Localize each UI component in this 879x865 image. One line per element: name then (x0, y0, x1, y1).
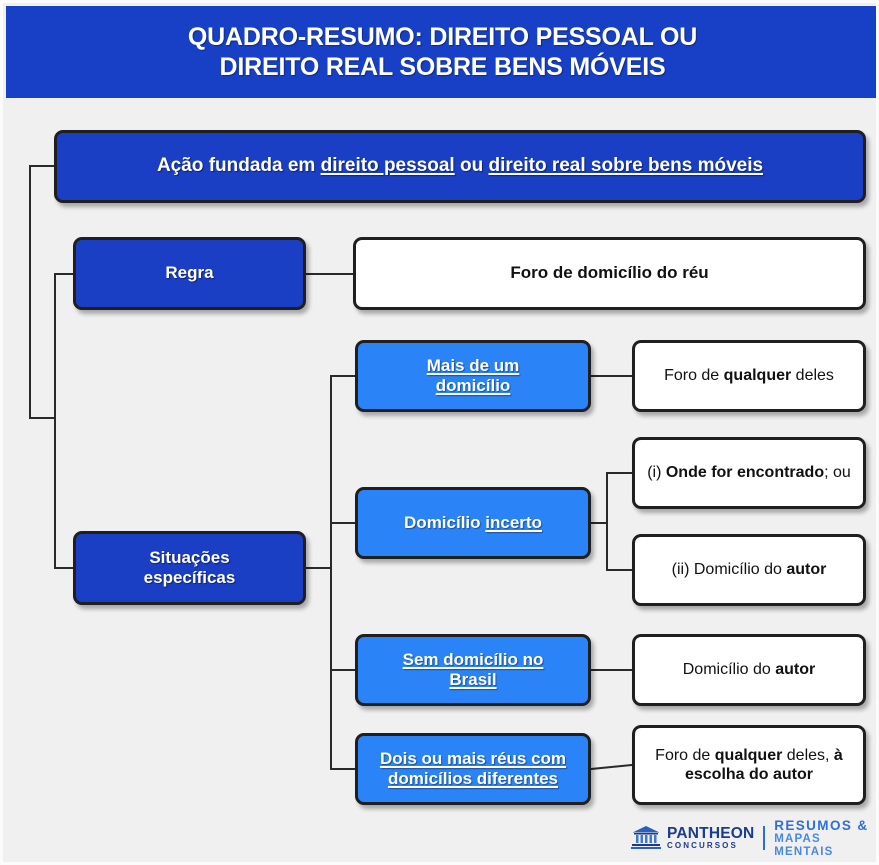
root-middle: ou (455, 155, 489, 176)
node-situacao-1-line2: domicílio (436, 376, 511, 395)
node-situacao-3-label: Sem domicílio no Brasil (368, 650, 578, 691)
s4-o-post: deles, (782, 747, 834, 764)
root-term-2: direito real sobre bens móveis (489, 155, 764, 176)
root-node: Ação fundada em direito pessoal ou direi… (54, 130, 866, 203)
mindmap-page: QUADRO-RESUMO: DIREITO PESSOAL OU DIREIT… (0, 0, 879, 865)
logo-divider (763, 826, 765, 850)
root-node-label: Ação fundada em direito pessoal ou direi… (67, 155, 853, 178)
logo-name: PANTHEON (667, 826, 754, 842)
node-situacao-3-line2: Brasil (449, 670, 496, 689)
page-title-line1: QUADRO-RESUMO: DIREITO PESSOAL OU (188, 22, 697, 53)
node-situacao-3-outcome-label: Domicílio do autor (645, 660, 853, 679)
logo-tagline-line2: MAPAS MENTAIS (774, 833, 871, 859)
logo-wordmark: PANTHEON CONCURSOS (667, 826, 754, 851)
node-situacao-1-label: Mais de um domicílio (368, 356, 578, 397)
node-regra-outcome-label: Foro de domicílio do réu (366, 263, 853, 283)
node-situacao-2-outcome-2: (ii) Domicílio do autor (632, 534, 866, 606)
node-situacao-sem-domicilio-no-brasil: Sem domicílio no Brasil (355, 634, 591, 706)
node-situacao-4-line2: domicílios diferentes (388, 769, 558, 788)
node-situacao-4-outcome-label: Foro de qualquer deles, à escolha do aut… (645, 746, 853, 784)
s3-o-pre: Domicílio do (683, 661, 775, 678)
node-regra-outcome: Foro de domicílio do réu (353, 237, 866, 310)
node-situacoes-especificas: Situações específicas (73, 531, 306, 605)
node-situacao-1-outcome-label: Foro de qualquer deles (645, 366, 853, 385)
s2-o1-strong: Onde for encontrado (666, 464, 824, 481)
brand-logo: PANTHEON CONCURSOS RESUMOS & MAPAS MENTA… (631, 821, 871, 855)
s1-o-post: deles (791, 367, 834, 384)
node-situacao-2-line2: incerto (485, 513, 542, 532)
pantheon-building-icon (631, 825, 661, 851)
s3-o-strong: autor (775, 661, 815, 678)
root-term-1: direito pessoal (321, 155, 455, 176)
node-situacao-2-outcome-2-label: (ii) Domicílio do autor (645, 560, 853, 579)
node-situacao-4-label: Dois ou mais réus com domicílios diferen… (368, 749, 578, 790)
node-situacao-mais-de-um-domicilio: Mais de um domicílio (355, 340, 591, 412)
wire-level2-spine (55, 274, 73, 568)
node-situacao-1-outcome: Foro de qualquer deles (632, 340, 866, 412)
node-regra: Regra (73, 237, 306, 310)
node-situacao-1-line1: Mais de um (427, 356, 520, 375)
node-situacoes-label: Situações específicas (86, 548, 293, 589)
node-regra-label: Regra (86, 263, 293, 283)
node-situacoes-line2: específicas (144, 568, 236, 587)
node-situacao-2-outcome-1-label: (i) Onde for encontrado; ou (645, 463, 853, 482)
logo-subname: CONCURSOS (667, 842, 754, 850)
node-situacao-2-label: Domicílio incerto (368, 513, 578, 533)
s2-o2-strong: autor (786, 561, 826, 578)
s1-o-strong: qualquer (724, 367, 792, 384)
node-situacao-domicilio-incerto: Domicílio incerto (355, 487, 591, 559)
logo-tagline-line1: RESUMOS & (774, 818, 871, 833)
s4-o-strong: qualquer (715, 747, 783, 764)
s1-o-pre: Foro de (664, 367, 724, 384)
node-situacao-3-outcome: Domicílio do autor (632, 634, 866, 706)
root-prefix: Ação fundada em (157, 155, 321, 176)
s2-o1-pre: (i) (647, 464, 666, 481)
s2-o2-pre: (ii) Domicílio do (672, 561, 787, 578)
page-title-banner: QUADRO-RESUMO: DIREITO PESSOAL OU DIREIT… (6, 6, 879, 98)
node-situacoes-line1: Situações (149, 548, 229, 567)
node-situacao-4-line1: Dois ou mais réus com (380, 749, 566, 768)
page-title-line2: DIREITO REAL SOBRE BENS MÓVEIS (220, 52, 666, 83)
logo-tagline: RESUMOS & MAPAS MENTAIS (774, 818, 871, 859)
node-situacao-2-line1: Domicílio (404, 513, 485, 532)
node-situacao-2-outcome-1: (i) Onde for encontrado; ou (632, 437, 866, 509)
node-situacao-dois-ou-mais-reus: Dois ou mais réus com domicílios diferen… (355, 733, 591, 805)
s2-o1-post: ; ou (824, 464, 851, 481)
wire-root-spine (30, 166, 55, 418)
wire-s4-outcome (591, 765, 632, 769)
node-situacao-3-line1: Sem domicílio no (403, 650, 544, 669)
node-situacao-4-outcome: Foro de qualquer deles, à escolha do aut… (632, 725, 866, 805)
s4-o-pre: Foro de (655, 747, 715, 764)
